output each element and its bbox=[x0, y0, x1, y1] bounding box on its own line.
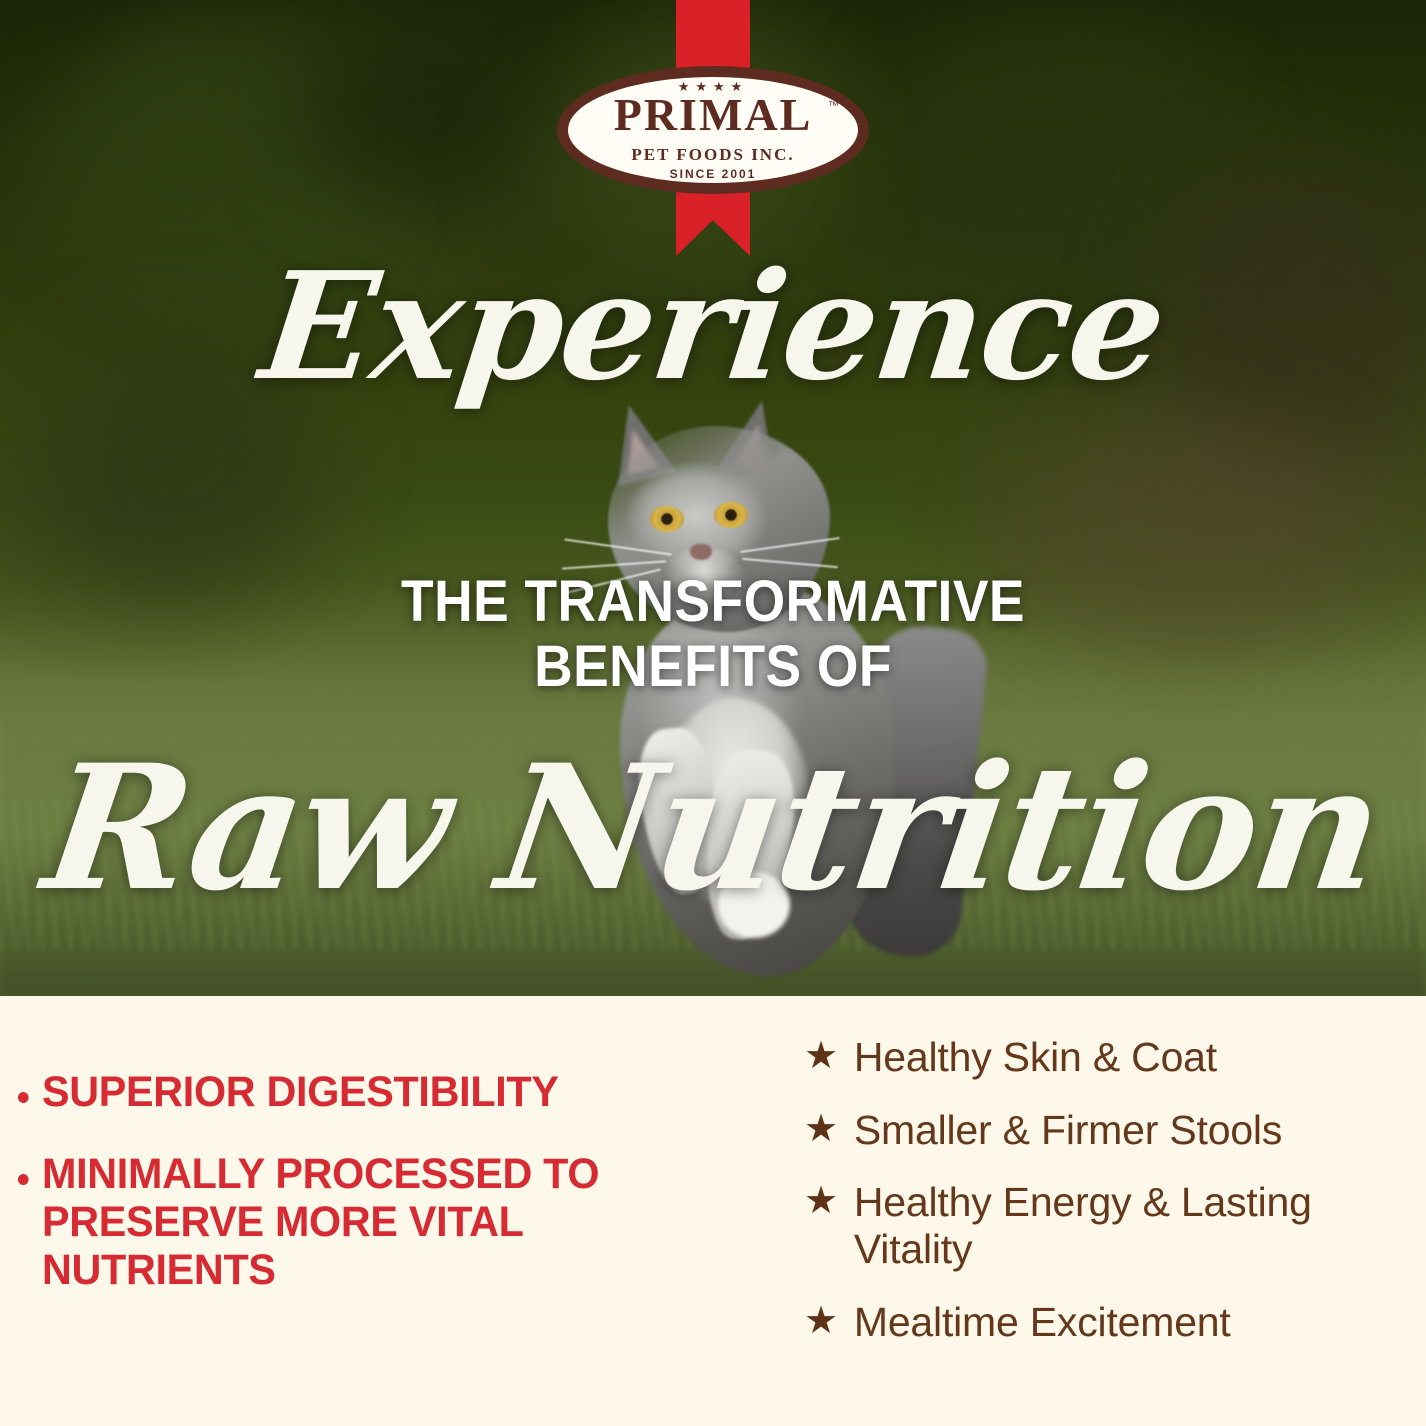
promo-poster: Experience THE TRANSFORMATIVE BENEFITS O… bbox=[0, 0, 1426, 1426]
star-icon: ★ bbox=[804, 1181, 838, 1221]
cat-eye-right bbox=[714, 502, 748, 528]
list-item-label: Mealtime Excitement bbox=[854, 1299, 1231, 1346]
list-item-label: Healthy Energy & Lasting Vitality bbox=[854, 1179, 1406, 1272]
star-icon: ★ bbox=[804, 1109, 838, 1149]
bullet-dot-icon bbox=[18, 1174, 29, 1185]
list-item-label: SUPERIOR DIGESTIBILITY bbox=[42, 1068, 559, 1116]
logo-trademark-icon: ™ bbox=[828, 100, 839, 112]
benefits-panel: SUPERIOR DIGESTIBILITY MINIMALLY PROCESS… bbox=[0, 996, 1426, 1426]
list-item-label: Healthy Skin & Coat bbox=[854, 1034, 1217, 1081]
headline-script-experience: Experience bbox=[0, 252, 1426, 400]
logo-tagline: PET FOODS INC. bbox=[557, 146, 869, 163]
list-item-label: MINIMALLY PROCESSED TO PRESERVE MORE VIT… bbox=[42, 1150, 654, 1294]
primal-logo[interactable]: ★★★★ PRIMAL ™ PET FOODS INC. SINCE 2001 bbox=[557, 66, 869, 194]
subheadline-line-2: BENEFITS OF bbox=[57, 635, 1369, 700]
star-icon: ★ bbox=[804, 1301, 838, 1341]
benefits-left-column: SUPERIOR DIGESTIBILITY MINIMALLY PROCESS… bbox=[0, 996, 712, 1426]
hero-photo: Experience THE TRANSFORMATIVE BENEFITS O… bbox=[0, 0, 1426, 996]
list-item: ★ Smaller & Firmer Stools bbox=[804, 1107, 1406, 1154]
cat-nose bbox=[690, 544, 712, 560]
bullet-dot-icon bbox=[18, 1092, 29, 1103]
list-item: ★ Healthy Energy & Lasting Vitality bbox=[804, 1179, 1406, 1272]
list-item: MINIMALLY PROCESSED TO PRESERVE MORE VIT… bbox=[18, 1150, 654, 1294]
subheadline-line-1: THE TRANSFORMATIVE bbox=[57, 570, 1369, 635]
headline-script-raw-nutrition: Raw Nutrition bbox=[0, 742, 1426, 914]
star-icon: ★ bbox=[804, 1036, 838, 1076]
list-item: ★ Healthy Skin & Coat bbox=[804, 1034, 1406, 1081]
benefits-right-column: ★ Healthy Skin & Coat ★ Smaller & Firmer… bbox=[712, 996, 1426, 1426]
cat-eye-left bbox=[650, 506, 684, 532]
list-item: SUPERIOR DIGESTIBILITY bbox=[18, 1068, 654, 1116]
logo-brand-name: PRIMAL bbox=[557, 92, 869, 138]
list-item-label: Smaller & Firmer Stools bbox=[854, 1107, 1282, 1154]
list-item: ★ Mealtime Excitement bbox=[804, 1299, 1406, 1346]
logo-since-year: SINCE 2001 bbox=[557, 168, 869, 180]
